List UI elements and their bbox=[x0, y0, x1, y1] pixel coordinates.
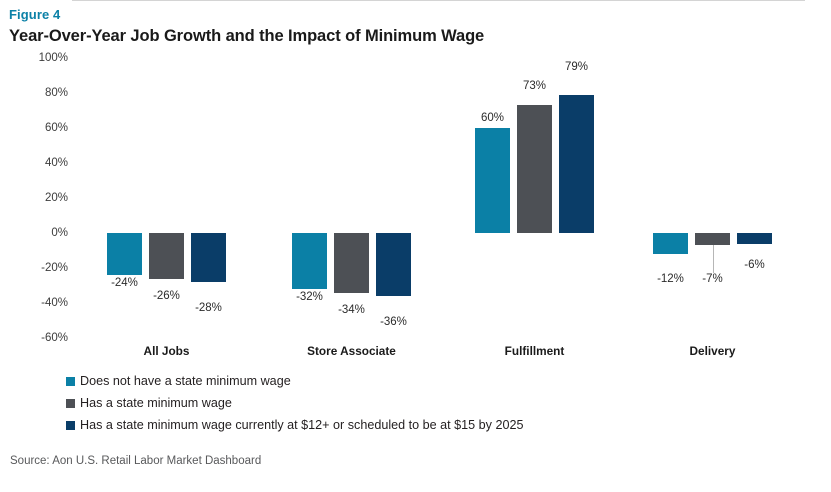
bar bbox=[191, 233, 226, 282]
y-axis-tick-label: 80% bbox=[6, 87, 68, 99]
y-axis-tick-label: -60% bbox=[6, 332, 68, 344]
bar bbox=[653, 233, 688, 254]
bar-value-label: -32% bbox=[287, 291, 333, 303]
y-axis-tick-label: -20% bbox=[6, 262, 68, 274]
bar-value-label: -12% bbox=[648, 273, 694, 285]
bar-value-label: -26% bbox=[144, 290, 190, 302]
bar bbox=[559, 95, 594, 233]
y-axis-tick-label: 60% bbox=[6, 122, 68, 134]
x-axis-category-label: Store Associate bbox=[262, 344, 442, 358]
bar bbox=[107, 233, 142, 275]
legend-item[interactable]: Does not have a state minimum wage bbox=[66, 370, 524, 392]
bar bbox=[737, 233, 772, 244]
y-axis-tick-label: 100% bbox=[6, 52, 68, 64]
legend-label: Does not have a state minimum wage bbox=[80, 374, 291, 388]
bar bbox=[475, 128, 510, 233]
bar-value-label: -6% bbox=[732, 259, 778, 271]
x-axis-category-label: Fulfillment bbox=[445, 344, 625, 358]
chart-legend: Does not have a state minimum wageHas a … bbox=[66, 370, 524, 436]
bar-value-label: -7% bbox=[690, 273, 736, 285]
bar-value-label: 60% bbox=[470, 112, 516, 124]
x-axis-category-label: Delivery bbox=[623, 344, 803, 358]
bar bbox=[376, 233, 411, 296]
y-axis-tick-label: 0% bbox=[6, 227, 68, 239]
legend-label: Has a state minimum wage bbox=[80, 396, 232, 410]
bar bbox=[292, 233, 327, 289]
y-axis-tick-label: 20% bbox=[6, 192, 68, 204]
bar-value-label: -34% bbox=[329, 304, 375, 316]
bar-value-label: 79% bbox=[554, 61, 600, 73]
bar bbox=[334, 233, 369, 293]
bar-value-label: -36% bbox=[371, 316, 417, 328]
legend-item[interactable]: Has a state minimum wage bbox=[66, 392, 524, 414]
bar bbox=[695, 233, 730, 245]
y-axis-tick-label: 40% bbox=[6, 157, 68, 169]
zero-baseline bbox=[72, 0, 805, 1]
y-axis-tick-label: -40% bbox=[6, 297, 68, 309]
bar bbox=[517, 105, 552, 233]
source-note: Source: Aon U.S. Retail Labor Market Das… bbox=[10, 455, 261, 467]
legend-swatch-icon bbox=[66, 421, 75, 430]
x-axis-category-label: All Jobs bbox=[77, 344, 257, 358]
bar-value-label: 73% bbox=[512, 80, 558, 92]
legend-label: Has a state minimum wage currently at $1… bbox=[80, 418, 524, 432]
label-leader-line bbox=[713, 245, 714, 273]
bar-value-label: -24% bbox=[102, 277, 148, 289]
legend-swatch-icon bbox=[66, 377, 75, 386]
bar bbox=[149, 233, 184, 279]
bar-value-label: -28% bbox=[186, 302, 232, 314]
legend-item[interactable]: Has a state minimum wage currently at $1… bbox=[66, 414, 524, 436]
legend-swatch-icon bbox=[66, 399, 75, 408]
